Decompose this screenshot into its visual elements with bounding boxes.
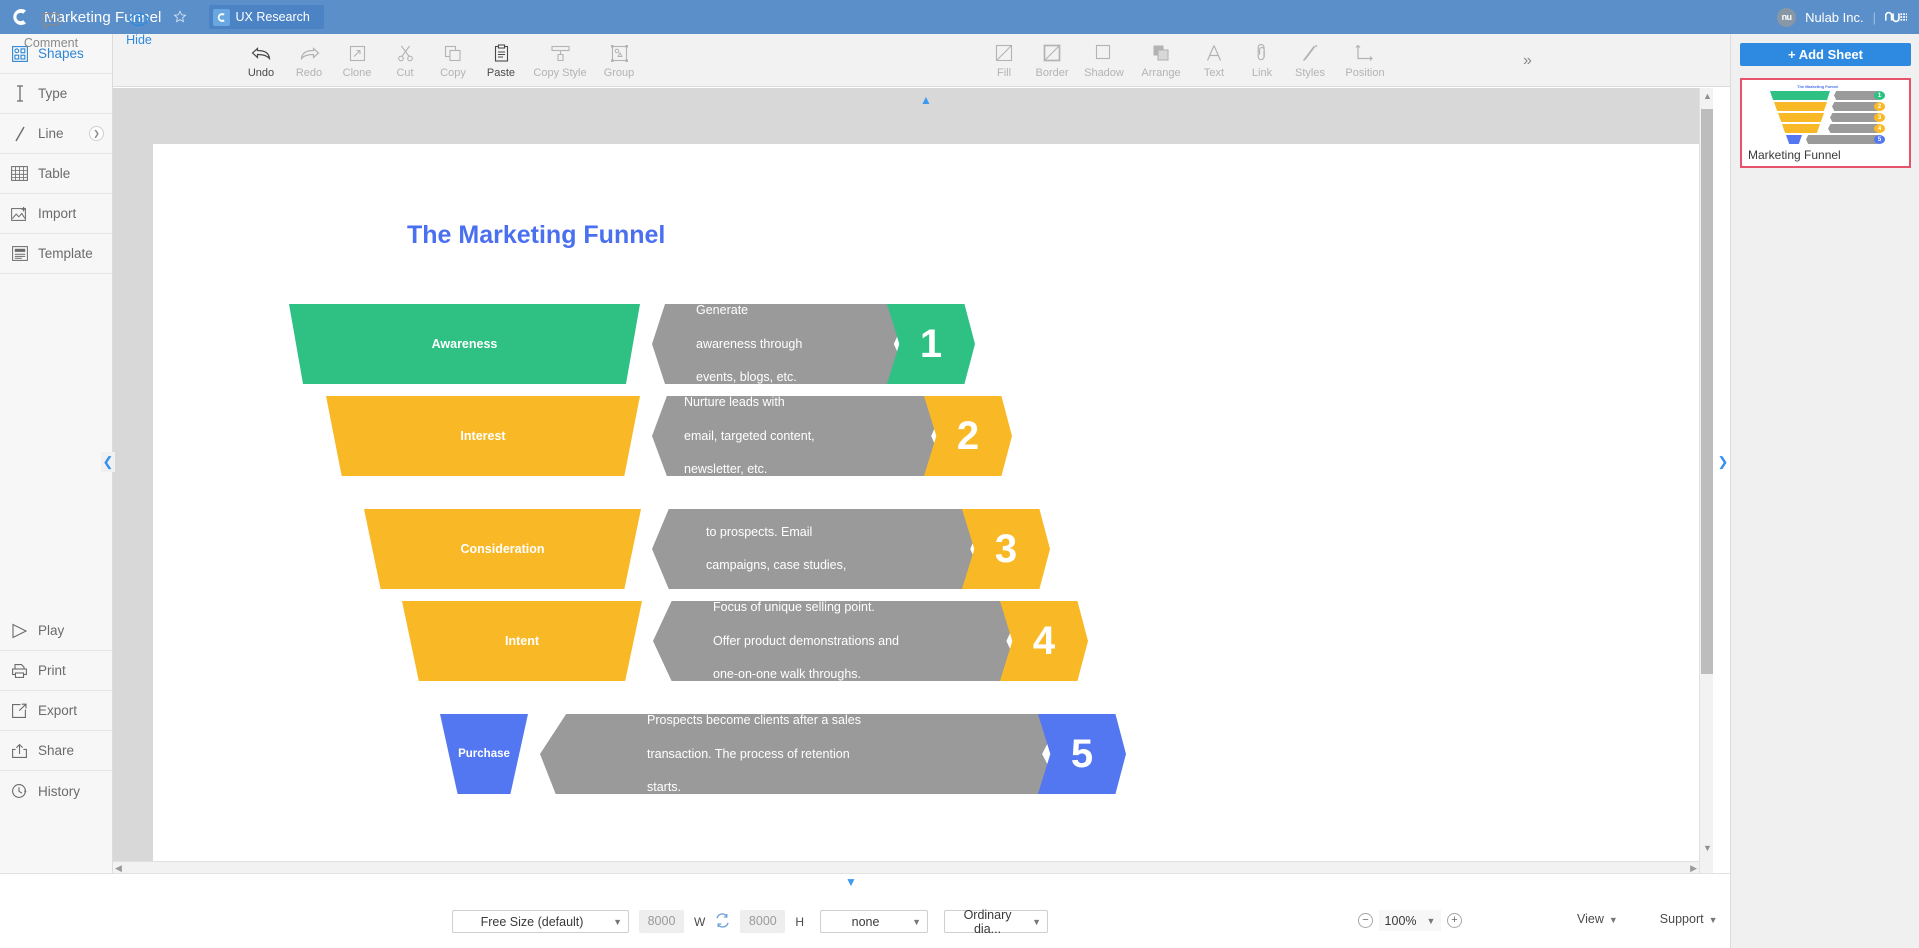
group-icon (611, 41, 628, 65)
diagram-title[interactable]: The Marketing Funnel (407, 221, 665, 250)
redo-button[interactable]: Redo (285, 38, 333, 79)
sheets-panel: + Add Sheet The Marketing Funnel 1 2 3 (1730, 34, 1919, 948)
arrange-button[interactable]: Arrange (1132, 38, 1190, 79)
image-import-icon (10, 206, 29, 222)
funnel-row-4[interactable]: Intent Focus of unique selling point. Of… (402, 601, 913, 681)
template-icon (10, 246, 29, 261)
zoom-plus-icon[interactable]: + (1447, 913, 1462, 928)
undo-arrow-icon (251, 41, 272, 65)
toolbar-label: Arrange (1141, 67, 1180, 79)
nulab-apps-grid-icon[interactable] (1885, 10, 1907, 24)
thumbnail-number: 3 (1874, 113, 1885, 122)
canvas-height-input[interactable]: 8000 (740, 910, 785, 933)
diagram-type-value: Ordinary dia... (951, 908, 1024, 936)
chevron-down-icon: ▼ (613, 917, 622, 927)
toolbar-label: Group (604, 67, 635, 79)
diagram-type-select[interactable]: Ordinary dia... ▼ (944, 910, 1048, 933)
scroll-up-arrow-icon[interactable]: ▲ (1703, 91, 1712, 101)
cacoo-mini-logo-icon (213, 9, 230, 26)
bottom-left-actions: Comment Hide (22, 12, 168, 50)
canvas-collapse-left-handle[interactable]: ❮ (101, 452, 115, 472)
toolbar-label: Redo (296, 67, 322, 79)
canvas-collapse-right-handle[interactable]: ❯ (1716, 452, 1730, 472)
sidebar-item-label: Line (38, 126, 64, 141)
play-triangle-icon (10, 623, 29, 639)
paint-roller-icon (550, 41, 571, 65)
width-unit-label: W (694, 915, 705, 929)
funnel-stage-label: Awareness (432, 337, 498, 351)
size-preset-value: Free Size (default) (459, 915, 605, 929)
grid-select[interactable]: none ▼ (820, 910, 928, 933)
border-button[interactable]: Border (1028, 38, 1076, 79)
funnel-number-shape[interactable]: 3 (962, 509, 1050, 589)
left-sidebar: Shapes Type Line ❯ Table Import (0, 34, 113, 883)
funnel-stage-label: Consideration (460, 542, 544, 556)
text-a-icon (1205, 41, 1223, 65)
funnel-number-label: 2 (957, 414, 979, 459)
cut-button[interactable]: Cut (381, 38, 429, 79)
chevron-up-icon[interactable]: ▲ (920, 94, 932, 106)
comment-button[interactable]: Comment (22, 12, 80, 50)
funnel-desc-shape[interactable]: Focus of unique selling point. Offer pro… (653, 601, 1025, 681)
comment-plus-icon (41, 12, 61, 33)
zoom-value: 100% (1385, 914, 1417, 928)
line-icon (10, 126, 29, 142)
project-name: UX Research (236, 10, 310, 24)
chevron-down-icon: ▼ (1427, 916, 1436, 926)
link-button[interactable]: Link (1238, 38, 1286, 79)
scroll-down-arrow-icon[interactable]: ▼ (1703, 843, 1712, 853)
funnel-number-shape[interactable]: 5 (1038, 714, 1126, 794)
paste-button[interactable]: Paste (477, 38, 525, 79)
size-preset-select[interactable]: Free Size (default) ▼ (452, 910, 629, 933)
project-selector[interactable]: UX Research caret-down-icon (209, 5, 324, 29)
funnel-desc-shape[interactable]: Generate awareness through events, blogs… (652, 304, 912, 384)
toolbar-label: Paste (487, 67, 515, 79)
styles-button[interactable]: Styles (1286, 38, 1334, 79)
sidebar-item-label: Export (38, 703, 77, 718)
funnel-number-shape[interactable]: 1 (887, 304, 975, 384)
horizontal-scrollbar[interactable]: ◀ ▶ (113, 861, 1699, 873)
toolbar-label: Text (1204, 67, 1224, 79)
group-button[interactable]: Group (595, 38, 643, 79)
sidebar-item-label: Import (38, 206, 76, 221)
sheet-name: Marketing Funnel (1742, 145, 1909, 162)
diagram-page[interactable]: The Marketing Funnel Awareness Generate … (153, 144, 1699, 861)
border-swatch-icon (1043, 41, 1061, 65)
sidebar-item-label: Play (38, 623, 64, 638)
toolbar-label: Copy (440, 67, 466, 79)
arrange-layers-icon (1152, 41, 1171, 65)
funnel-desc-shape[interactable]: Provide product information to prospects… (652, 509, 987, 589)
funnel-stage-label: Purchase (458, 748, 510, 760)
funnel-desc-text: Provide product information to prospects… (706, 491, 859, 607)
toolbar-label: Position (1345, 67, 1384, 79)
copy-icon (444, 41, 463, 65)
canvas-width-input[interactable]: 8000 (639, 910, 684, 933)
export-arrow-icon (10, 703, 29, 719)
sheet-thumbnail-image: The Marketing Funnel 1 2 3 (1742, 80, 1909, 145)
zoom-controls: − 100% ▼ + (1358, 910, 1462, 931)
swap-dimensions-icon[interactable] (715, 913, 730, 931)
toolbar-label: Border (1035, 67, 1068, 79)
toolbar-label: Copy Style (533, 67, 586, 79)
thumbnail-number: 4 (1874, 124, 1885, 133)
divider: | (1873, 10, 1876, 25)
chevron-down-icon: ▼ (1032, 917, 1041, 927)
redo-arrow-icon (299, 41, 320, 65)
toolbar-label: Undo (248, 67, 274, 79)
canvas-size-controls: Free Size (default) ▼ 8000 W 8000 H none… (452, 910, 1048, 933)
support-menu[interactable]: Support▼ (1660, 912, 1718, 926)
sidebar-item-export[interactable]: Export (0, 691, 113, 731)
funnel-row-5[interactable]: Purchase Prospects become clients after … (440, 714, 913, 794)
sidebar-item-share[interactable]: Share (0, 731, 113, 771)
vertical-scroll-thumb[interactable] (1701, 109, 1713, 674)
add-sheet-button[interactable]: + Add Sheet (1740, 43, 1911, 66)
share-upload-icon (10, 743, 29, 759)
zoom-select[interactable]: 100% ▼ (1379, 910, 1441, 931)
printer-icon (10, 663, 29, 679)
funnel-desc-shape[interactable]: Prospects become clients after a sales t… (540, 714, 1063, 794)
funnel-number-label: 3 (995, 527, 1017, 572)
funnel-row-3[interactable]: Consideration Provide product informatio… (364, 509, 913, 589)
shadow-button[interactable]: Shadow (1076, 38, 1132, 79)
funnel-stage-label: Intent (505, 634, 539, 648)
view-menu[interactable]: View▼ (1577, 912, 1618, 926)
eye-icon (128, 12, 150, 30)
sidebar-item-history[interactable]: History (0, 771, 113, 811)
sidebar-item-template[interactable]: Template (0, 234, 112, 274)
shadow-square-icon (1095, 41, 1113, 65)
sidebar-item-line[interactable]: Line ❯ (0, 114, 112, 154)
funnel-row-1[interactable]: Awareness Generate awareness through eve… (289, 304, 913, 384)
vertical-scrollbar[interactable]: ▲ ▼ (1699, 88, 1713, 873)
table-grid-icon (10, 166, 29, 181)
sidebar-item-label: History (38, 784, 80, 799)
funnel-number-label: 4 (1033, 619, 1055, 664)
avatar[interactable]: nu (1777, 8, 1796, 27)
funnel-stage-shape[interactable]: Purchase (440, 714, 528, 794)
hide-label: Hide (126, 33, 152, 47)
toolbar-edit-group: Undo Redo Clone Cut (237, 38, 643, 79)
sidebar-item-print[interactable]: Print (0, 651, 113, 691)
sheet-thumbnail-card[interactable]: The Marketing Funnel 1 2 3 (1740, 78, 1911, 168)
toolbar-label: Styles (1295, 67, 1325, 79)
sidebar-item-import[interactable]: Import (0, 194, 112, 234)
funnel-desc-text: Focus of unique selling point. Offer pro… (713, 599, 899, 682)
sidebar-item-type[interactable]: Type (0, 74, 112, 114)
scissors-icon (397, 41, 414, 65)
toolbar-format-group: Fill Border Shadow Arrange (980, 38, 1396, 79)
thumbnail-number: 1 (1874, 91, 1885, 100)
sidebar-item-label: Share (38, 743, 74, 758)
funnel-stage-label: Interest (460, 429, 505, 443)
position-axes-icon (1355, 41, 1375, 65)
position-button[interactable]: Position (1334, 38, 1396, 79)
fill-button[interactable]: Fill (980, 38, 1028, 79)
funnel-desc-text: Nurture leads with email, targeted conte… (684, 394, 815, 477)
clone-button[interactable]: Clone (333, 38, 381, 79)
view-label: View (1577, 912, 1604, 926)
toolbar-label: Clone (343, 67, 372, 79)
comment-label: Comment (24, 36, 78, 50)
undo-button[interactable]: Undo (237, 38, 285, 79)
main-toolbar: Undo Redo Clone Cut (113, 34, 1919, 87)
sidebar-item-play[interactable]: Play (0, 611, 113, 651)
sidebar-item-label: Print (38, 663, 66, 678)
link-chain-icon (1255, 41, 1269, 65)
grid-value: none (827, 915, 904, 929)
clock-history-icon (10, 783, 29, 799)
funnel-stage-shape[interactable]: Intent (402, 601, 642, 681)
canvas-area[interactable]: ▲ The Marketing Funnel Awareness Generat… (113, 88, 1699, 861)
sidebar-item-label: Type (38, 86, 67, 101)
copy-style-button[interactable]: Copy Style (525, 38, 595, 79)
account-name[interactable]: Nulab Inc. (1805, 10, 1864, 25)
funnel-number-shape[interactable]: 4 (1000, 601, 1088, 681)
copy-button[interactable]: Copy (429, 38, 477, 79)
sidebar-item-table[interactable]: Table (0, 154, 112, 194)
text-button[interactable]: Text (1190, 38, 1238, 79)
star-outline-icon[interactable] (173, 10, 187, 24)
chevron-right-icon[interactable]: ❯ (89, 126, 104, 141)
sidebar-lower-group: Play Print Export Share (0, 611, 113, 811)
bottom-collapse-handle[interactable]: ▼ (845, 875, 857, 889)
double-chevron-right-icon[interactable]: » (1523, 52, 1532, 70)
funnel-stage-shape[interactable]: Awareness (289, 304, 640, 384)
clone-icon (348, 41, 367, 65)
account-area: nu Nulab Inc. | (1777, 8, 1919, 27)
funnel-stage-shape[interactable]: Consideration (364, 509, 641, 589)
styles-pen-icon (1301, 41, 1319, 65)
thumbnail-title: The Marketing Funnel (1797, 84, 1838, 89)
funnel-row-2[interactable]: Interest Nurture leads with email, targe… (326, 396, 913, 476)
funnel-number-label: 5 (1071, 732, 1093, 777)
thumbnail-number: 5 (1874, 135, 1885, 144)
fill-swatch-icon (995, 41, 1013, 65)
top-bar: Marketing Funnel UX Research caret-down-… (0, 0, 1919, 34)
toolbar-label: Cut (396, 67, 413, 79)
text-cursor-icon (10, 85, 29, 102)
funnel-desc-text: Generate awareness through events, blogs… (696, 302, 802, 385)
funnel-stage-shape[interactable]: Interest (326, 396, 640, 476)
height-unit-label: H (795, 915, 804, 929)
chevron-down-icon: ▼ (912, 917, 921, 927)
zoom-minus-icon[interactable]: − (1358, 913, 1373, 928)
sidebar-item-label: Template (38, 246, 93, 261)
funnel-desc-shape[interactable]: Nurture leads with email, targeted conte… (652, 396, 949, 476)
support-label: Support (1660, 912, 1704, 926)
funnel-number-shape[interactable]: 2 (924, 396, 1012, 476)
funnel-desc-text: Prospects become clients after a sales t… (647, 712, 861, 795)
toolbar-label: Link (1252, 67, 1272, 79)
bottom-right-menus: View▼ Support▼ (1577, 912, 1718, 926)
funnel-number-label: 1 (920, 322, 942, 367)
sidebar-item-label: Table (38, 166, 70, 181)
hide-button[interactable]: Hide (110, 12, 168, 50)
thumbnail-number: 2 (1874, 102, 1885, 111)
toolbar-label: Shadow (1084, 67, 1124, 79)
toolbar-label: Fill (997, 67, 1011, 79)
clipboard-icon (494, 41, 509, 65)
